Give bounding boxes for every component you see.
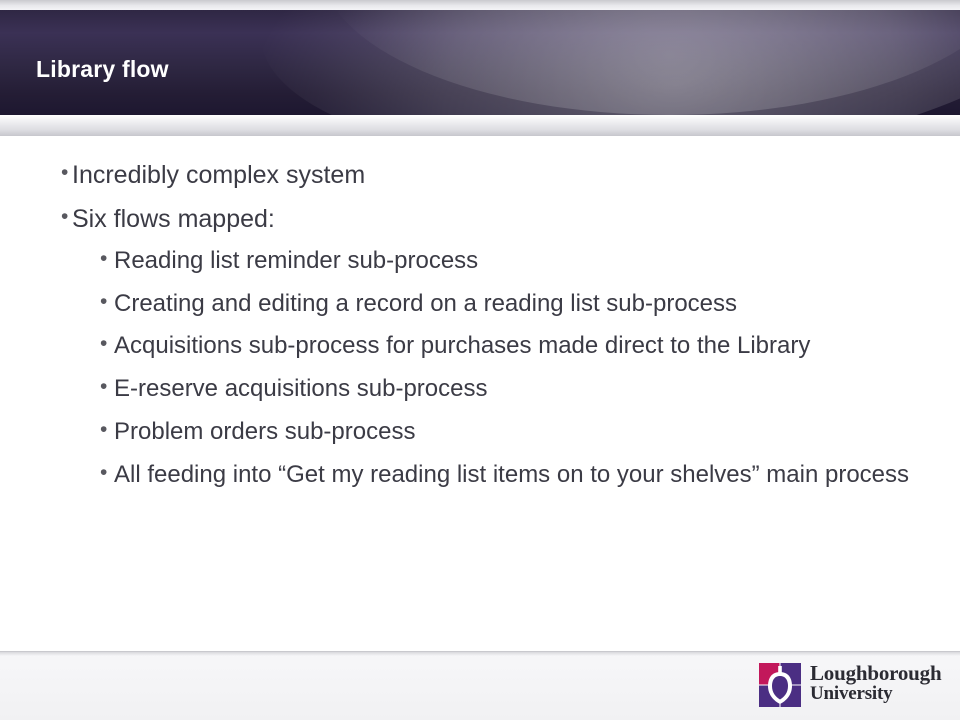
bullet-icon: • bbox=[100, 289, 107, 316]
list-item: • Acquisitions sub-process for purchases… bbox=[72, 331, 928, 362]
bullet-list-level2: • Reading list reminder sub-process • Cr… bbox=[72, 246, 928, 490]
sub-bullet-text: E-reserve acquisitions sub-process bbox=[114, 375, 488, 402]
list-item: • Reading list reminder sub-process bbox=[72, 246, 928, 277]
list-item: • All feeding into “Get my reading list … bbox=[72, 460, 928, 491]
bullet-list-level1: • Incredibly complex system • Six flows … bbox=[28, 160, 928, 490]
bullet-icon: • bbox=[61, 204, 68, 229]
bullet-icon: • bbox=[100, 331, 107, 358]
sub-bullet-text: Creating and editing a record on a readi… bbox=[114, 290, 737, 317]
page-title: Library flow bbox=[36, 56, 169, 83]
bullet-icon: • bbox=[100, 246, 107, 273]
sub-bullet-text: All feeding into “Get my reading list it… bbox=[114, 461, 909, 488]
sub-bullet-text: Reading list reminder sub-process bbox=[114, 247, 478, 274]
loughborough-university-logo-icon bbox=[758, 662, 802, 708]
bullet-text: Six flows mapped: bbox=[72, 205, 275, 233]
footer-shade bbox=[0, 652, 960, 656]
bullet-text: Incredibly complex system bbox=[72, 161, 365, 189]
sub-bullet-text: Acquisitions sub-process for purchases m… bbox=[114, 332, 810, 359]
bullet-icon: • bbox=[100, 417, 107, 444]
logo-line-2: University bbox=[810, 684, 941, 704]
list-item: • E-reserve acquisitions sub-process bbox=[72, 374, 928, 405]
bullet-icon: • bbox=[61, 160, 68, 185]
slide: Library flow • Incredibly complex system… bbox=[0, 0, 960, 720]
logo-line-1: Loughborough bbox=[810, 662, 941, 684]
university-logo: Loughborough University bbox=[758, 660, 948, 712]
list-item: • Six flows mapped: • Reading list remin… bbox=[28, 204, 928, 490]
slide-header: Library flow bbox=[0, 0, 960, 136]
slide-content: • Incredibly complex system • Six flows … bbox=[28, 160, 928, 504]
list-item: • Incredibly complex system bbox=[28, 160, 928, 190]
slide-footer: Loughborough University bbox=[0, 651, 960, 720]
header-bottom-strip bbox=[0, 115, 960, 136]
sub-bullet-text: Problem orders sub-process bbox=[114, 418, 415, 445]
list-item: • Problem orders sub-process bbox=[72, 417, 928, 448]
list-item: • Creating and editing a record on a rea… bbox=[72, 289, 928, 320]
header-top-strip bbox=[0, 0, 960, 10]
bullet-icon: • bbox=[100, 460, 107, 487]
bullet-icon: • bbox=[100, 374, 107, 401]
logo-text: Loughborough University bbox=[810, 662, 941, 704]
